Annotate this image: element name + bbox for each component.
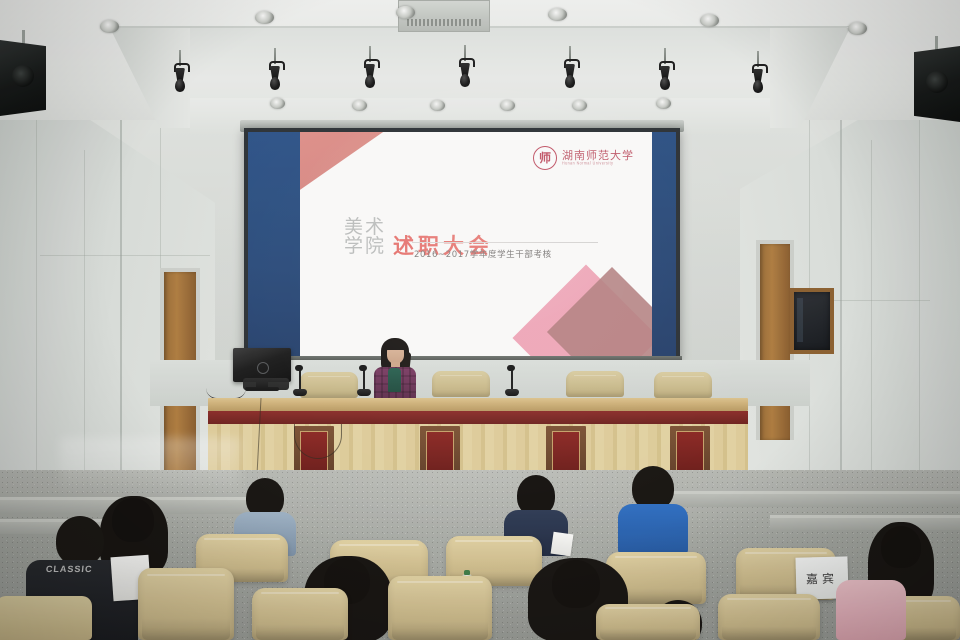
audience-head — [552, 560, 600, 608]
audience-head — [56, 516, 104, 566]
downlight-icon — [848, 22, 867, 35]
speaker-cone-icon — [12, 65, 34, 87]
monitor-screen-back — [233, 348, 291, 382]
spotlight-bulb-icon — [365, 75, 375, 88]
audience-torso — [618, 504, 688, 554]
speaker-cone-icon — [926, 71, 948, 93]
panel-chair — [566, 371, 624, 397]
wall-seam — [84, 150, 85, 480]
projector-blue-edge-left — [248, 132, 300, 356]
wall-seam — [919, 120, 920, 470]
presenter-hair-front — [385, 340, 406, 350]
microphone-base — [293, 389, 307, 396]
wall-seam — [871, 140, 872, 470]
table-microphone — [356, 368, 372, 398]
spotlight-bulb-icon — [753, 80, 763, 93]
floor-step — [670, 492, 960, 507]
spotlight-bulb-icon — [270, 77, 280, 90]
auditorium-seat-arm[interactable] — [0, 596, 92, 640]
microphone-capsule-icon — [359, 365, 367, 371]
projection-booth-window — [790, 288, 834, 354]
auditorium-seat[interactable] — [718, 594, 820, 640]
table-microphone — [292, 368, 308, 398]
floor-step-nosing — [770, 515, 960, 518]
auditorium-seat[interactable] — [138, 568, 234, 640]
presenter-inner-top — [388, 368, 401, 392]
downlight-icon — [430, 100, 445, 111]
university-logo: 师 湖南师范大学 Hunan Normal University — [533, 146, 634, 170]
desk-equipment — [243, 378, 289, 390]
right-wall-seam — [840, 90, 842, 470]
audience-member — [618, 466, 688, 546]
auditorium-seat[interactable] — [252, 588, 348, 640]
slide-subtitle: 2016~2017学年度学生干部考核 — [414, 248, 552, 260]
microphone-gooseneck — [363, 368, 365, 390]
audience-member — [836, 562, 906, 640]
microphone-gooseneck — [511, 368, 513, 390]
downlight-icon — [255, 11, 274, 24]
auditorium-photo: 师 湖南师范大学 Hunan Normal University 美术 学院 述… — [0, 0, 960, 640]
downlight-icon — [500, 100, 515, 111]
slide-title-divider — [412, 242, 598, 243]
right-door[interactable] — [760, 244, 790, 440]
seal-glyph: 师 — [539, 152, 551, 164]
slide-canvas: 师 湖南师范大学 Hunan Normal University 美术 学院 述… — [300, 132, 652, 356]
downlight-icon — [270, 98, 285, 109]
floor-step-nosing — [670, 491, 960, 494]
held-document — [551, 532, 574, 557]
department-line-2: 学院 — [344, 237, 386, 256]
microphone-gooseneck — [299, 368, 301, 390]
projected-slide: 师 湖南师范大学 Hunan Normal University 美术 学院 述… — [248, 132, 676, 356]
auditorium-seat[interactable] — [596, 604, 700, 640]
wall-seam — [40, 255, 210, 256]
speaker-bracket — [22, 30, 25, 44]
projector-blue-edge-right — [652, 132, 676, 356]
panel-chair — [300, 372, 358, 398]
spotlight-bulb-icon — [660, 77, 670, 90]
audience-torso — [836, 580, 906, 640]
downlight-icon — [352, 100, 367, 111]
table-microphone — [504, 368, 520, 398]
microphone-capsule-icon — [295, 365, 303, 371]
left-wall-seam — [120, 80, 122, 480]
podium-tabletop — [208, 398, 748, 411]
downlight-icon — [548, 8, 567, 21]
downlight-icon — [100, 20, 119, 33]
auditorium-seat[interactable] — [388, 576, 492, 640]
slide-decor-triangle — [300, 132, 386, 194]
university-seal-icon: 师 — [533, 146, 557, 170]
university-logo-text: 湖南师范大学 Hunan Normal University — [562, 150, 634, 165]
monitor-brand-icon — [257, 362, 269, 374]
downlight-icon — [656, 98, 671, 109]
microphone-capsule-icon — [507, 365, 515, 371]
wall-speaker-right — [914, 46, 960, 122]
slide-title-department: 美术 学院 — [344, 218, 386, 257]
bottle-cap — [464, 570, 470, 575]
slide-title-block: 美术 学院 述职大会 2016~2017学年度学生干部考核 — [344, 218, 604, 257]
spotlight-bulb-icon — [175, 79, 185, 92]
wall-seam — [36, 110, 37, 470]
wall-speaker-left — [0, 40, 46, 116]
panel-chair — [654, 372, 712, 398]
speaker-bracket — [935, 36, 938, 50]
presenter-speaker — [372, 338, 418, 400]
microphone-base — [357, 389, 371, 396]
downlight-icon — [700, 14, 719, 27]
podium-accent-rail — [208, 411, 748, 424]
spotlight-bulb-icon — [565, 75, 575, 88]
microphone-base — [505, 389, 519, 396]
floor-reflection — [60, 438, 240, 498]
downlight-icon — [572, 100, 587, 111]
panel-chair — [432, 371, 490, 397]
reserved-seat-label: 嘉宾 — [806, 569, 838, 587]
spotlight-bulb-icon — [460, 74, 470, 87]
jacket-print-text: CLASSIC — [45, 564, 93, 574]
downlight-icon — [396, 6, 415, 19]
university-name-en: Hunan Normal University — [562, 162, 634, 167]
